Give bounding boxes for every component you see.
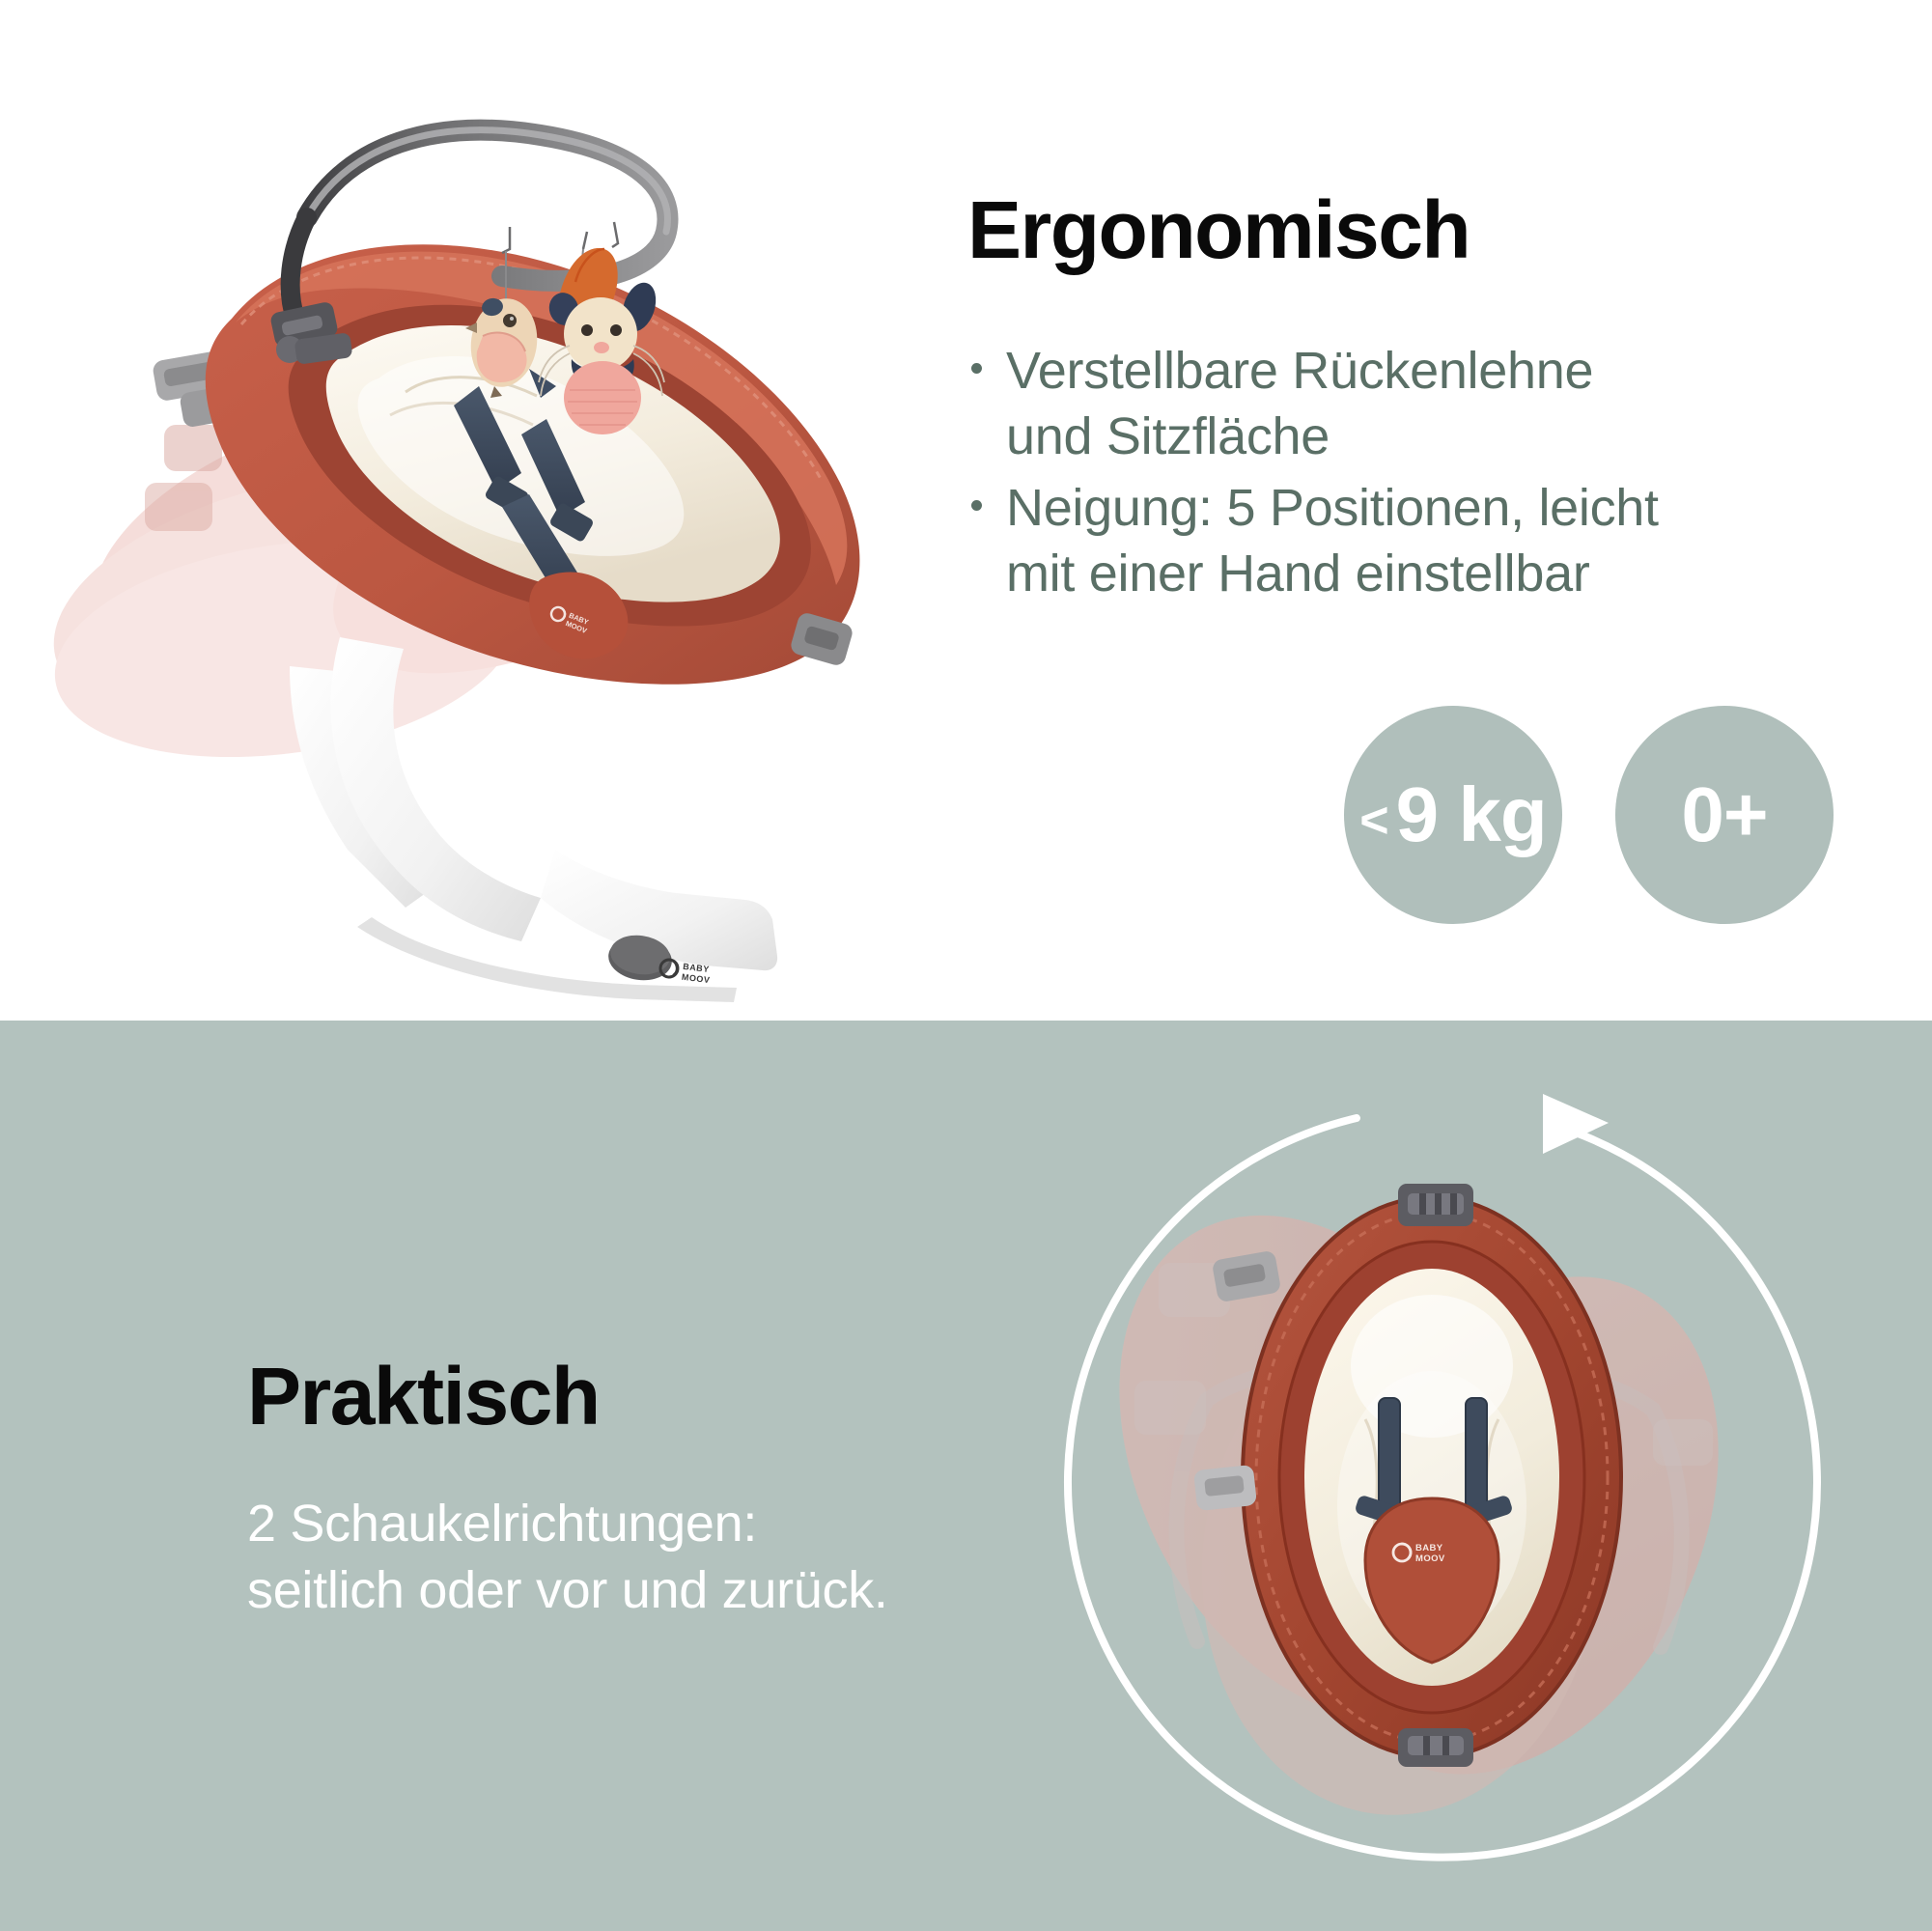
weight-badge-value: 9 kg [1396, 770, 1547, 859]
bottom-body-text: 2 Schaukelrichtungen: seitlich oder vor … [247, 1491, 1116, 1624]
infographic-page: BABY MOOV [0, 0, 1932, 1931]
weight-badge: < 9 kg [1344, 706, 1562, 924]
bottom-body-line-1: 2 Schaukelrichtungen: [247, 1491, 1116, 1557]
spec-badges: < 9 kg 0+ [1344, 706, 1834, 924]
feature-list-item: Neigung: 5 Positionen, leicht mit einer … [967, 475, 1865, 606]
feature-line-1: Verstellbare Rückenlehne [1006, 342, 1593, 400]
age-badge-text: 0+ [1681, 770, 1767, 859]
bottom-body-line-2: seitlich oder vor und zurück. [247, 1557, 1116, 1624]
feature-list-item: Verstellbare Rückenlehne und Sitzfläche [967, 338, 1865, 469]
page-title-ergonomisch: Ergonomisch [967, 189, 1865, 270]
top-text-block: Ergonomisch Verstellbare Rückenlehne und… [967, 189, 1865, 612]
age-badge-value: 0+ [1681, 770, 1767, 859]
feature-line-2: und Sitzfläche [1006, 407, 1330, 465]
less-than-icon: < [1359, 792, 1387, 850]
page-title-praktisch: Praktisch [247, 1356, 1116, 1437]
age-badge: 0+ [1615, 706, 1834, 924]
bullet-dot-icon [971, 363, 982, 374]
feature-list: Verstellbare Rückenlehne und Sitzfläche … [967, 338, 1865, 606]
bottom-text-block: Praktisch 2 Schaukelrichtungen: seitlich… [247, 1356, 1116, 1624]
bullet-dot-icon [971, 500, 982, 511]
weight-badge-text: < 9 kg [1359, 770, 1546, 859]
feature-line-1: Neigung: 5 Positionen, leicht [1006, 479, 1659, 537]
feature-line-2: mit einer Hand einstellbar [1006, 545, 1590, 602]
